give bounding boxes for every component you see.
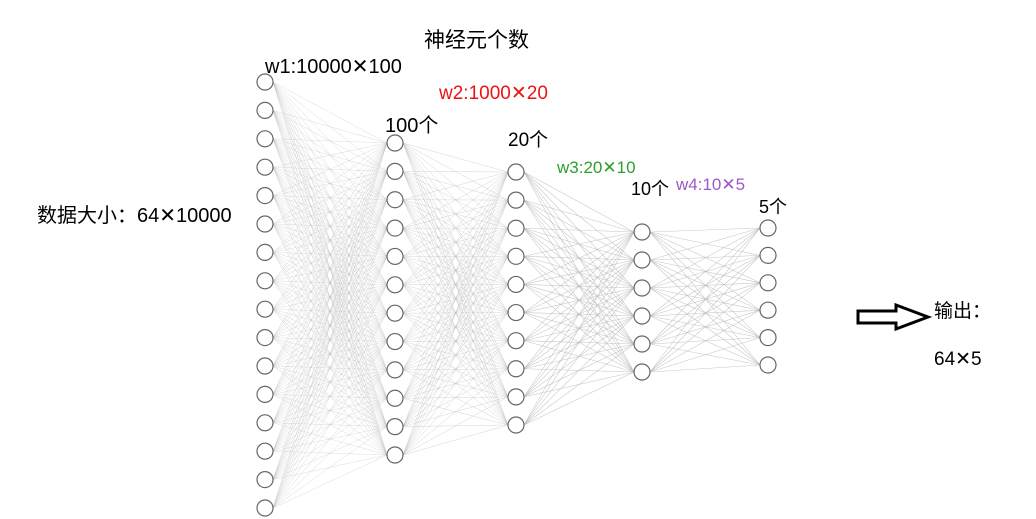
network-node — [257, 472, 273, 488]
network-node — [257, 386, 273, 402]
network-node — [257, 443, 273, 459]
layer-count-3: 20个 — [508, 131, 548, 150]
network-node — [257, 358, 273, 374]
network-node — [760, 357, 776, 373]
network-node — [508, 192, 524, 208]
network-node — [387, 362, 403, 378]
network-node — [387, 390, 403, 406]
weight-label-w1: w1:10000✕100 — [265, 57, 402, 77]
network-node — [760, 330, 776, 346]
network-node — [508, 220, 524, 236]
output-label: 输出： — [934, 302, 991, 321]
network-node — [387, 419, 403, 435]
network-node — [508, 276, 524, 292]
weight-label-w3: w3:20✕10 — [557, 159, 636, 176]
neural-network-diagram — [0, 0, 1036, 519]
weight-label-w2: w2:1000✕20 — [439, 84, 548, 103]
network-node — [387, 220, 403, 236]
network-node — [257, 330, 273, 346]
network-node — [257, 188, 273, 204]
network-node — [760, 220, 776, 236]
network-node — [508, 361, 524, 377]
network-node — [634, 280, 650, 296]
network-node — [508, 164, 524, 180]
network-node — [257, 159, 273, 175]
network-node — [508, 417, 524, 433]
network-node — [634, 308, 650, 324]
network-node — [387, 163, 403, 179]
network-node — [257, 102, 273, 118]
network-node — [760, 275, 776, 291]
network-node — [387, 277, 403, 293]
network-node — [257, 273, 273, 289]
network-node — [508, 389, 524, 405]
network-node — [634, 252, 650, 268]
network-node — [634, 364, 650, 380]
right-arrow-icon — [858, 305, 928, 329]
network-node — [508, 305, 524, 321]
network-node — [634, 336, 650, 352]
network-node — [257, 500, 273, 516]
network-node — [760, 302, 776, 318]
network-node — [387, 334, 403, 350]
weight-label-w4: w4:10✕5 — [676, 176, 745, 193]
network-node — [257, 216, 273, 232]
network-node — [387, 447, 403, 463]
output-value: 64✕5 — [934, 350, 982, 369]
input-size-label: 数据大小：64✕10000 — [37, 206, 232, 226]
network-node — [387, 305, 403, 321]
network-node — [508, 248, 524, 264]
network-node — [257, 244, 273, 260]
network-node — [257, 301, 273, 317]
layer-count-4: 10个 — [631, 180, 669, 198]
network-node — [508, 333, 524, 349]
network-node — [257, 415, 273, 431]
page-title: 神经元个数 — [424, 30, 529, 51]
layer-count-5: 5个 — [759, 198, 787, 216]
layer-count-2: 100个 — [385, 116, 438, 136]
network-node — [634, 224, 650, 240]
network-node — [387, 135, 403, 151]
network-node — [387, 248, 403, 264]
network-node — [257, 131, 273, 147]
network-node — [387, 192, 403, 208]
network-node — [760, 247, 776, 263]
